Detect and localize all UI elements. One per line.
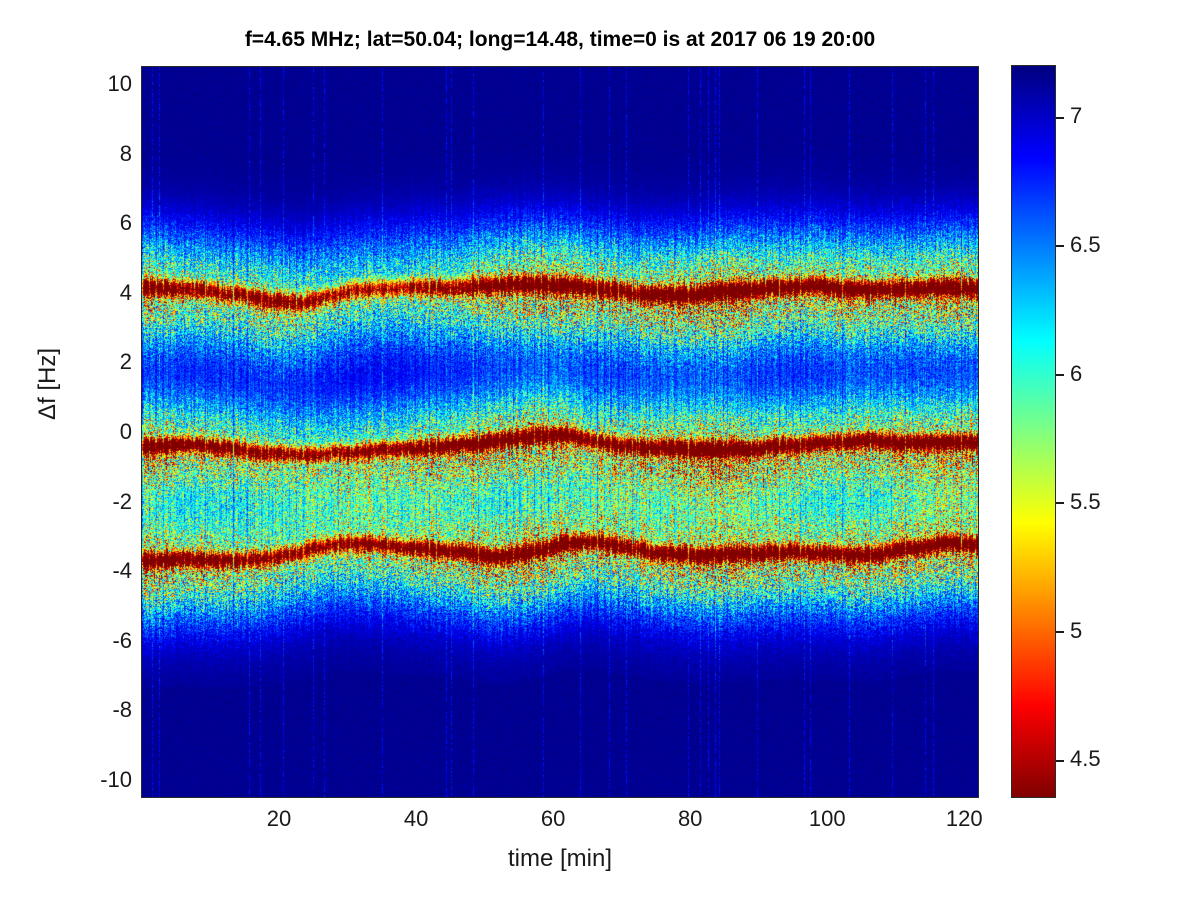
- spectrogram-image: [142, 67, 978, 797]
- y-tick-label: 4: [120, 280, 132, 306]
- colorbar-tick-mark: [1056, 374, 1064, 376]
- colorbar-tick-6: 6: [1056, 361, 1082, 387]
- x-axis-tick-labels: 20406080100120: [141, 806, 979, 840]
- figure-canvas: f=4.65 MHz; lat=50.04; long=14.48, time=…: [0, 0, 1200, 900]
- y-tick-label: 8: [120, 141, 132, 167]
- y-tick-label: -8: [112, 697, 132, 723]
- colorbar-tick-7: 7: [1056, 103, 1082, 129]
- colorbar-tick-labels: 4.555.566.57: [1056, 65, 1186, 798]
- colorbar-tick-5-5: 5.5: [1056, 489, 1101, 515]
- y-tick-label: -2: [112, 489, 132, 515]
- colorbar-tick-5: 5: [1056, 618, 1082, 644]
- colorbar-tick-4-5: 4.5: [1056, 746, 1101, 772]
- colorbar-gradient: [1011, 65, 1056, 798]
- x-tick-label: 20: [267, 806, 291, 832]
- colorbar-tick-mark: [1056, 502, 1064, 504]
- colorbar-tick-mark: [1056, 245, 1064, 247]
- colorbar-tick-mark: [1056, 631, 1064, 633]
- colorbar-tick-mark: [1056, 760, 1064, 762]
- colorbar-tick-6-5: 6.5: [1056, 232, 1101, 258]
- colorbar-tick-mark: [1056, 117, 1064, 119]
- x-tick-label: 120: [946, 806, 983, 832]
- y-tick-label: 10: [108, 71, 132, 97]
- y-tick-label: -6: [112, 628, 132, 654]
- colorbar-tick-label: 6: [1070, 361, 1082, 386]
- page-title: f=4.65 MHz; lat=50.04; long=14.48, time=…: [141, 28, 979, 52]
- x-tick-label: 60: [541, 806, 565, 832]
- y-tick-label: -4: [112, 558, 132, 584]
- colorbar-tick-label: 6.5: [1070, 232, 1101, 257]
- colorbar-tick-label: 5: [1070, 618, 1082, 643]
- colorbar-tick-label: 7: [1070, 103, 1082, 128]
- x-tick-label: 80: [678, 806, 702, 832]
- colorbar-tick-label: 5.5: [1070, 489, 1101, 514]
- y-tick-label: 6: [120, 210, 132, 236]
- y-tick-label: -10: [100, 767, 132, 793]
- x-axis-label: time [min]: [141, 845, 979, 873]
- spectrogram-axes: [141, 66, 979, 798]
- colorbar-tick-label: 4.5: [1070, 746, 1101, 771]
- x-tick-label: 40: [404, 806, 428, 832]
- y-axis-label: Δf [Hz]: [34, 294, 62, 474]
- y-axis-tick-labels: -10-8-6-4-20246810: [60, 66, 132, 798]
- x-tick-label: 100: [809, 806, 846, 832]
- y-tick-label: 0: [120, 419, 132, 445]
- y-tick-label: 2: [120, 349, 132, 375]
- colorbar: 4.555.566.57: [1011, 65, 1191, 799]
